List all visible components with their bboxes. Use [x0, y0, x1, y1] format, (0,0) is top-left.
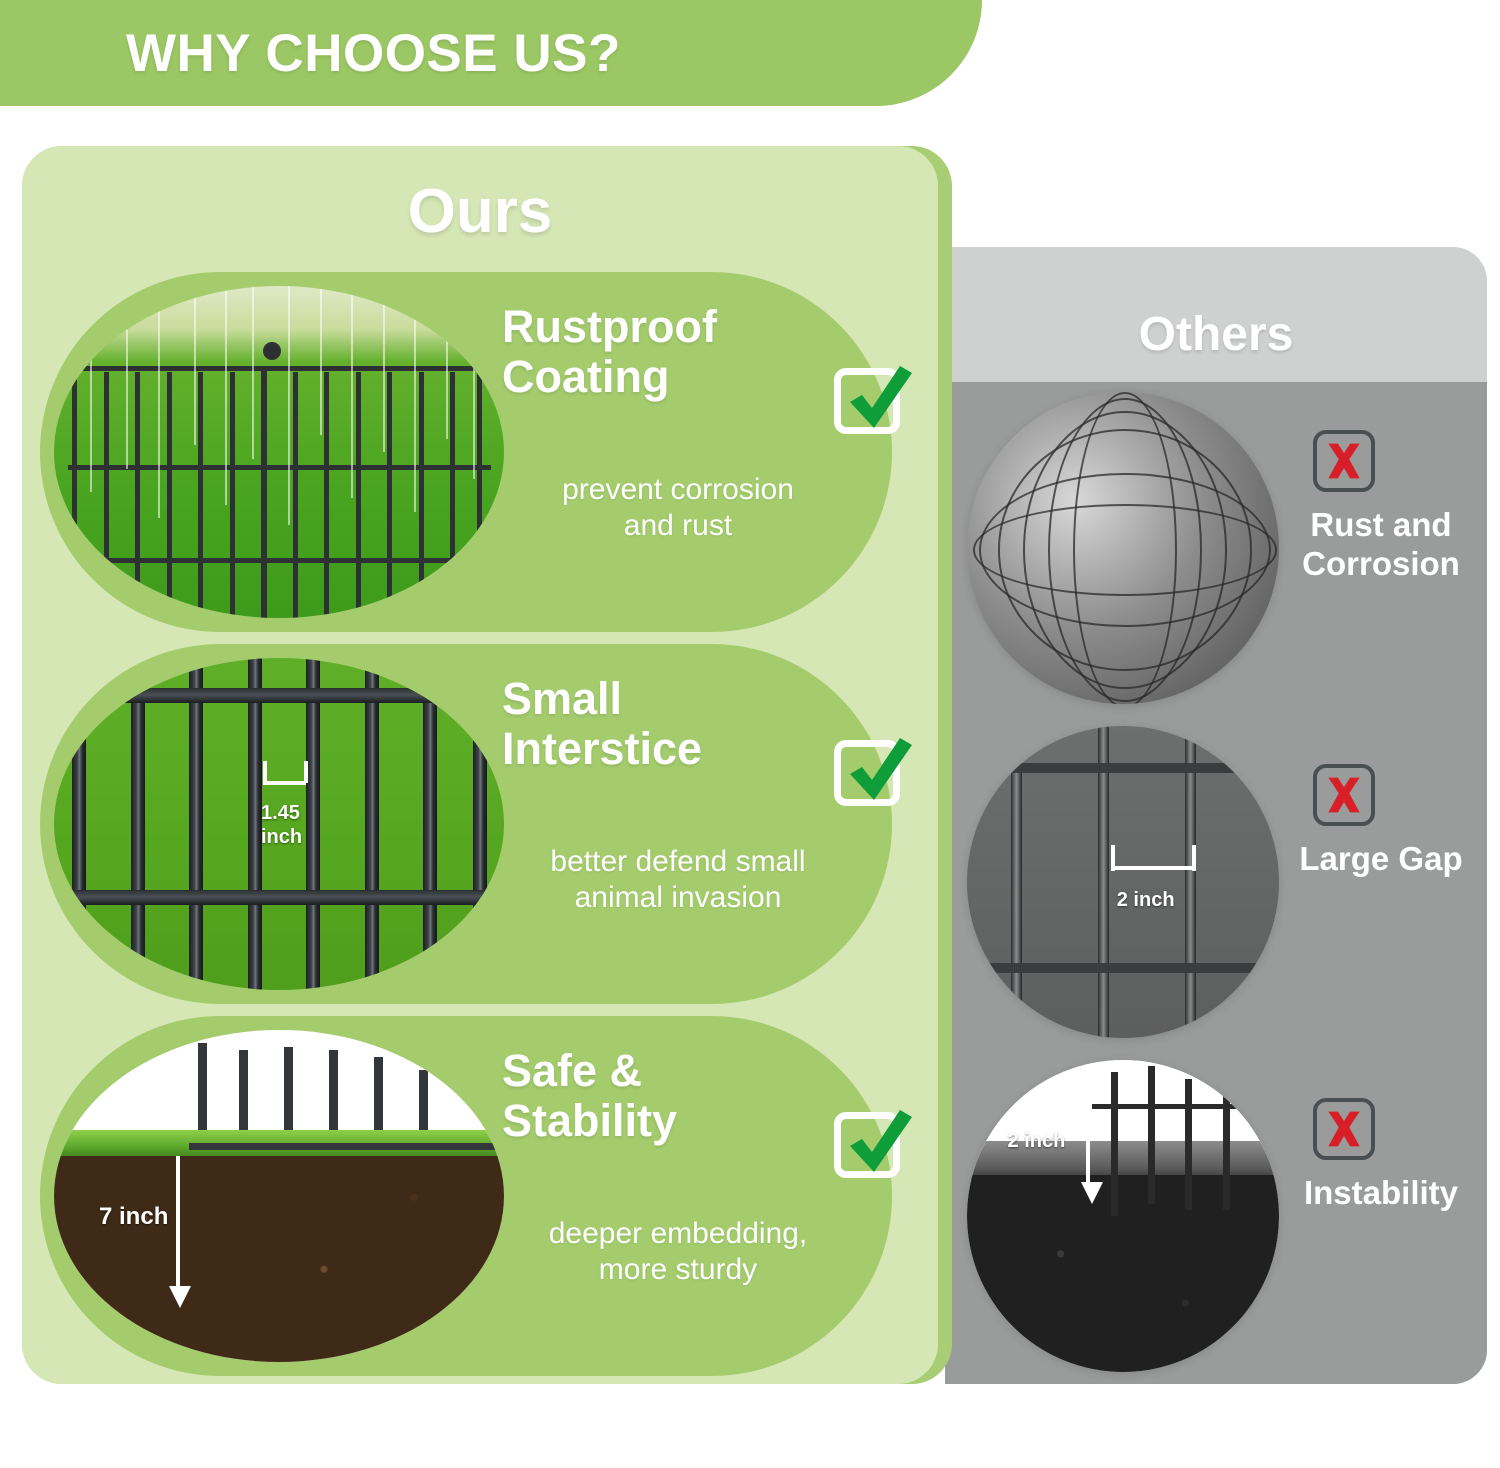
- ours-photo-fence-bar-gap: 1.45inch: [54, 658, 504, 990]
- ours-feature-rustproof: RustproofCoating prevent corrosionand ru…: [22, 268, 938, 636]
- others-item-instability: 2 inch Instability: [945, 1050, 1487, 1384]
- ours-panel-title: Ours: [22, 176, 938, 247]
- others-photo-shallow-fence-soil: 2 inch: [967, 1060, 1279, 1372]
- feature-subtext-safe-stability: deeper embedding,more sturdy: [488, 1216, 868, 1288]
- feature-heading-text: SmallInterstice: [502, 673, 702, 774]
- page-title: WHY CHOOSE US?: [126, 27, 621, 80]
- ours-panel: Ours: [22, 146, 938, 1384]
- others-label-text: Large Gap: [1299, 840, 1462, 877]
- feature-heading-text: RustproofCoating: [502, 301, 717, 402]
- feature-subtext-text: prevent corrosionand rust: [562, 473, 794, 542]
- feature-heading-rustproof: RustproofCoating: [502, 302, 832, 403]
- ours-photo-stake-in-soil: 7 inch: [54, 1030, 504, 1362]
- others-item-rust: Rust andCorrosion: [945, 382, 1487, 716]
- others-measure-large-gap: 2 inch: [1117, 888, 1175, 912]
- feature-subtext-text: deeper embedding,more sturdy: [549, 1217, 808, 1286]
- others-item-large-gap: 2 inch Large Gap: [945, 716, 1487, 1050]
- feature-heading-safe-stability: Safe &Stability: [502, 1046, 832, 1147]
- ours-feature-safe-stability: 7 inch Safe &Stability deeper embedding,…: [22, 1012, 938, 1380]
- others-label-text: Instability: [1304, 1174, 1458, 1211]
- ours-feature-small-interstice: 1.45inch SmallInterstice better defend s…: [22, 640, 938, 1008]
- others-photo-rusty-wire-mesh-roll: [967, 392, 1279, 704]
- x-mark-rust: [1313, 430, 1375, 492]
- feature-subtext-rustproof: prevent corrosionand rust: [488, 472, 868, 544]
- feature-subtext-text: better defend smallanimal invasion: [550, 845, 805, 914]
- ours-measure-interstice: 1.45inch: [261, 801, 302, 849]
- ours-measure-depth: 7 inch: [99, 1203, 168, 1232]
- others-panel-title: Others: [945, 307, 1487, 362]
- x-mark-instability: [1313, 1098, 1375, 1160]
- red-x-icon: [1313, 1098, 1375, 1160]
- red-x-icon: [1313, 764, 1375, 826]
- green-check-icon: [832, 1102, 918, 1188]
- feature-heading-text: Safe &Stability: [502, 1045, 677, 1146]
- feature-subtext-small-interstice: better defend smallanimal invasion: [488, 844, 868, 916]
- green-check-icon: [832, 358, 918, 444]
- others-photo-wide-gap-fence: 2 inch: [967, 726, 1279, 1038]
- green-check-icon: [832, 730, 918, 816]
- x-mark-large-gap: [1313, 764, 1375, 826]
- others-label-instability: Instability: [1275, 1174, 1487, 1213]
- red-x-icon: [1313, 430, 1375, 492]
- header-banner: WHY CHOOSE US?: [0, 0, 982, 106]
- others-label-large-gap: Large Gap: [1275, 840, 1487, 879]
- ours-photo-rain-fence-grass: [54, 286, 504, 618]
- feature-heading-small-interstice: SmallInterstice: [502, 674, 832, 775]
- others-label-rust: Rust andCorrosion: [1275, 506, 1487, 583]
- others-label-text: Rust andCorrosion: [1302, 506, 1460, 582]
- others-panel: Others Rust an: [945, 247, 1487, 1384]
- others-panel-body: Rust andCorrosion 2 inch: [945, 382, 1487, 1384]
- others-measure-instability: 2 inch: [1008, 1129, 1066, 1153]
